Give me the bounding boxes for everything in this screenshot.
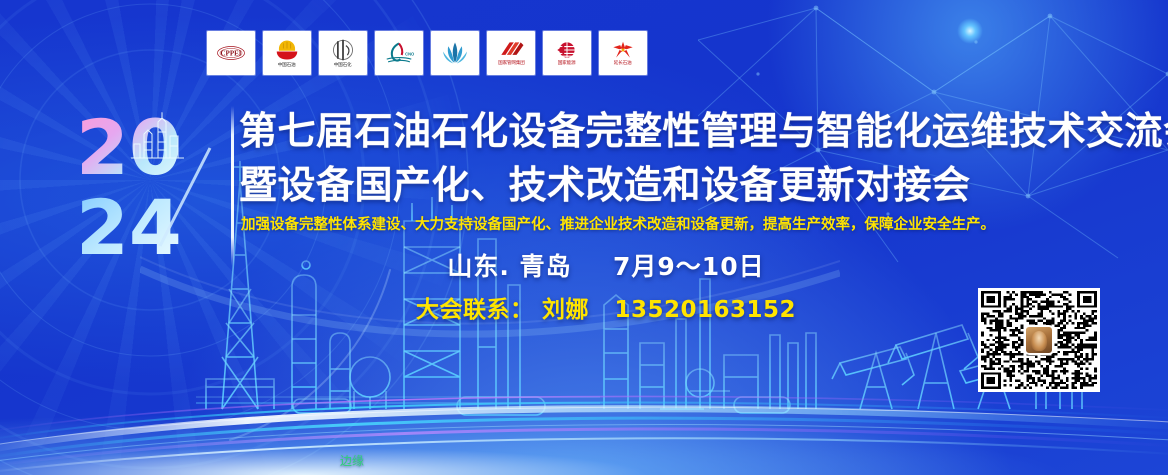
svg-text:24: 24 [76, 183, 182, 272]
svg-text:CPPEI: CPPEI [221, 50, 242, 58]
svg-text:CNOOC: CNOOC [405, 52, 414, 57]
sponsor-label: 国家能源 [558, 60, 576, 66]
sponsor-logo-strip: CPPEI 中国石油 中国石化 [207, 31, 647, 75]
sponsor-logo-cnooc[interactable]: CNOOC [375, 31, 423, 75]
sponsor-logo-cnpc[interactable]: 中国石油 [263, 31, 311, 75]
state-energy-icon [552, 41, 582, 59]
sponsor-logo-sinochem[interactable] [431, 31, 479, 75]
state-pipeline-icon [496, 41, 526, 59]
sinochem-icon [440, 40, 470, 66]
sponsor-label: 中国石化 [334, 62, 352, 68]
conference-title-line2: 暨设备国产化、技术改造和设备更新对接会 [231, 158, 1151, 212]
sponsor-logo-state-pipeline[interactable]: 国家管网集团 [487, 31, 535, 75]
floor-glow-decoration [0, 405, 1168, 475]
sponsor-label: 中国石油 [278, 62, 296, 68]
sinopec-icon [328, 39, 358, 61]
event-location: 山东. 青岛 [447, 252, 571, 281]
yanchang-icon [608, 41, 638, 59]
sponsor-logo-state-energy[interactable]: 国家能源 [543, 31, 591, 75]
qr-code[interactable] [978, 288, 1100, 392]
sponsor-logo-cppei[interactable]: CPPEI [207, 31, 255, 75]
sponsor-label: 延长石油 [614, 60, 632, 66]
qr-center-avatar [1024, 325, 1054, 355]
conference-title-line1: 第七届石油石化设备完整性管理与智能化运维技术交流会 [231, 104, 1151, 158]
sponsor-logo-sinopec[interactable]: 中国石化 [319, 31, 367, 75]
event-place-date: 山东. 青岛 7月9〜10日 [231, 247, 1151, 283]
year-emblem-2024: 20 24 [74, 96, 224, 274]
contact-name: 刘娜 [542, 297, 589, 323]
event-dates: 7月9〜10日 [613, 252, 765, 281]
sponsor-label: 国家管网集团 [498, 60, 525, 66]
edge-watermark: 边缘 [340, 452, 364, 469]
contact-phone: 13520163152 [615, 297, 797, 323]
star-glow-decoration [957, 18, 983, 44]
cnooc-icon: CNOOC [384, 40, 414, 66]
conference-subtitle: 加强设备完整性体系建设、大力支持设备国产化、推进企业技术改造和设备更新，提高生产… [231, 212, 1151, 238]
conference-banner: CPPEI 中国石油 中国石化 [0, 0, 1168, 475]
cppei-icon: CPPEI [216, 40, 246, 66]
contact-label: 大会联系： [416, 297, 534, 323]
cnpc-icon [272, 39, 302, 61]
sponsor-logo-yanchang[interactable]: 延长石油 [599, 31, 647, 75]
